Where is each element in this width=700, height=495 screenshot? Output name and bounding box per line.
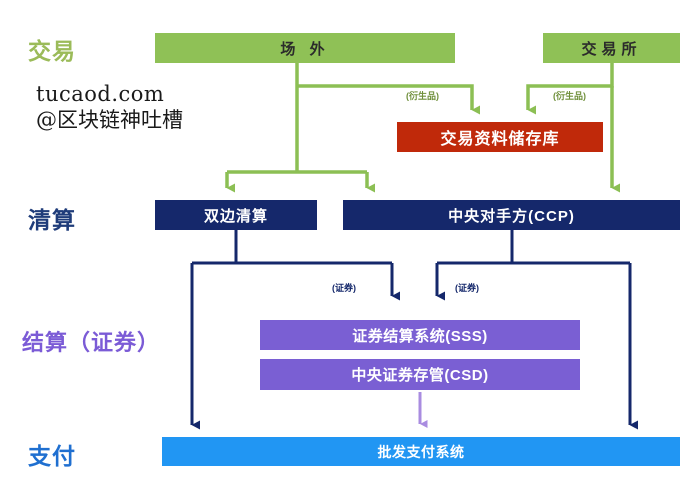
node-central-securities-depository[interactable]: 中央证券存管(CSD) xyxy=(260,359,580,390)
watermark-handle: @区块链神吐槽 xyxy=(36,108,183,134)
edge-otc-to-tr xyxy=(297,86,472,110)
tier-label-trading: 交易 xyxy=(28,32,76,66)
watermark-site: tucaod.com xyxy=(36,82,183,108)
edge-label-derivatives-otc: (衍生品) xyxy=(406,89,439,102)
node-bilateral-clearing[interactable]: 双边清算 xyxy=(155,200,317,230)
node-central-counterparty[interactable]: 中央对手方(CCP) xyxy=(343,200,680,230)
edge-label-securities-ccp: (证券) xyxy=(455,281,479,294)
tier-label-settlement: 结算（证券） xyxy=(22,325,160,357)
edge-exchange-to-tr xyxy=(528,63,612,110)
node-trade-repository[interactable]: 交易资料储存库 xyxy=(397,122,603,152)
watermark: tucaod.com @区块链神吐槽 xyxy=(36,82,183,133)
connector-layer xyxy=(0,0,700,495)
node-otc[interactable]: 场 外 xyxy=(155,33,455,63)
node-exchange[interactable]: 交易所 xyxy=(543,33,680,63)
diagram-canvas: 交易 清算 结算（证券） 支付 tucaod.com @区块链神吐槽 场 外 交… xyxy=(0,0,700,495)
edge-label-securities-bilateral: (证券) xyxy=(332,281,356,294)
node-wholesale-payment-system[interactable]: 批发支付系统 xyxy=(162,437,680,466)
tier-label-payment: 支付 xyxy=(28,437,76,471)
node-securities-settlement-system[interactable]: 证券结算系统(SSS) xyxy=(260,320,580,350)
tier-label-clearing: 清算 xyxy=(28,201,76,235)
edge-label-derivatives-exchange: (衍生品) xyxy=(553,89,586,102)
